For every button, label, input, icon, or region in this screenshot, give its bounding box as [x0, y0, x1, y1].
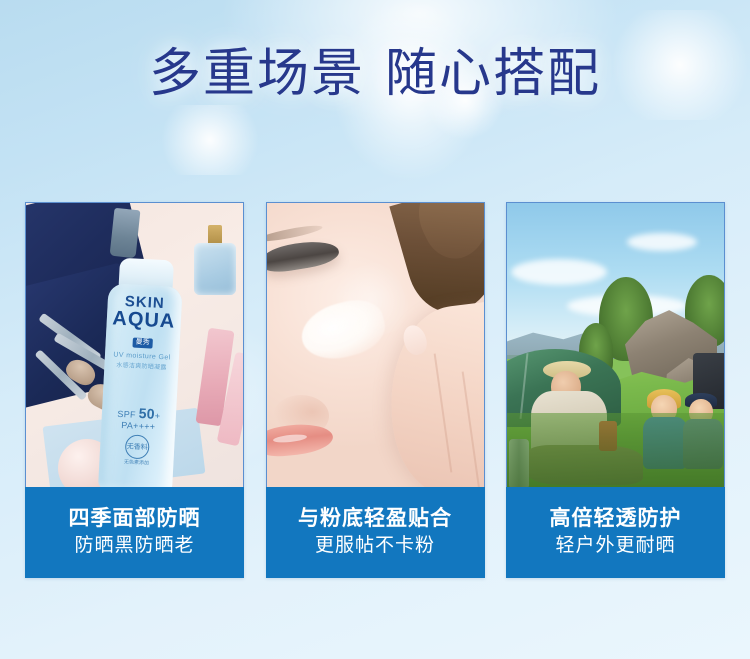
- pa-rating: PA++++: [121, 420, 156, 432]
- caption-panel-2: 与粉底轻盈贴合 更服帖不卡粉: [266, 487, 485, 578]
- page-title-part1: 多重场景: [149, 45, 365, 103]
- brand-cn-text: 曼秀: [132, 338, 152, 349]
- caption-sub-1: 防晒黑防晒老: [74, 535, 194, 557]
- photo-family-camping-outdoors: [506, 202, 725, 487]
- headline-glow: [300, 0, 520, 220]
- brand-aqua-text: AQUA: [104, 308, 183, 333]
- caption-main-3: 高倍轻透防护: [550, 507, 682, 532]
- feature-card-1[interactable]: SKIN AQUA 曼秀 UV moisture Gel 水感洁爽防晒凝露 SP…: [25, 202, 244, 578]
- promo-page: 多重场景随心搭配: [0, 0, 750, 659]
- spf-plus: +: [155, 411, 161, 421]
- bottle-label: SKIN AQUA 曼秀 UV moisture Gel 水感洁爽防晒凝露: [102, 293, 184, 372]
- spf-value: 50: [138, 405, 155, 422]
- foreground-grass: [507, 413, 724, 487]
- caption-panel-3: 高倍轻透防护 轻户外更耐晒: [506, 487, 725, 578]
- perfume-cap: [208, 225, 222, 245]
- caption-sub-3: 轻户外更耐晒: [555, 535, 675, 557]
- pouch-tassel: [110, 208, 141, 258]
- sunscreen-bottle: SKIN AQUA 曼秀 UV moisture Gel 水感洁爽防晒凝露 SP…: [96, 257, 186, 487]
- caption-main-2: 与粉底轻盈贴合: [298, 507, 452, 532]
- caption-main-1: 四季面部防晒: [69, 507, 201, 532]
- perfume-bottle: [194, 243, 236, 295]
- spf-rating: SPF 50+ PA++++: [99, 403, 178, 433]
- headline-container: 多重场景随心搭配: [0, 46, 750, 103]
- cloud-2: [627, 233, 697, 251]
- page-title: 多重场景随心搭配: [149, 46, 601, 103]
- feature-card-2[interactable]: 与粉底轻盈贴合 更服帖不卡粉: [266, 202, 485, 578]
- page-title-part2: 随心搭配: [385, 45, 601, 103]
- photo-face-closeup-with-cream-swatch: [266, 202, 485, 487]
- cloud-1: [511, 259, 607, 285]
- light-flare-b: [150, 105, 270, 175]
- caption-sub-2: 更服帖不卡粉: [315, 535, 435, 557]
- spf-prefix: SPF: [117, 409, 136, 420]
- photo-makeup-pouch-with-sunscreen-bottle: SKIN AQUA 曼秀 UV moisture Gel 水感洁爽防晒凝露 SP…: [25, 202, 244, 487]
- feature-card-row: SKIN AQUA 曼秀 UV moisture Gel 水感洁爽防晒凝露 SP…: [25, 202, 725, 578]
- caption-panel-1: 四季面部防晒 防晒黑防晒老: [25, 487, 244, 578]
- feature-card-3[interactable]: 高倍轻透防护 轻户外更耐晒: [506, 202, 725, 578]
